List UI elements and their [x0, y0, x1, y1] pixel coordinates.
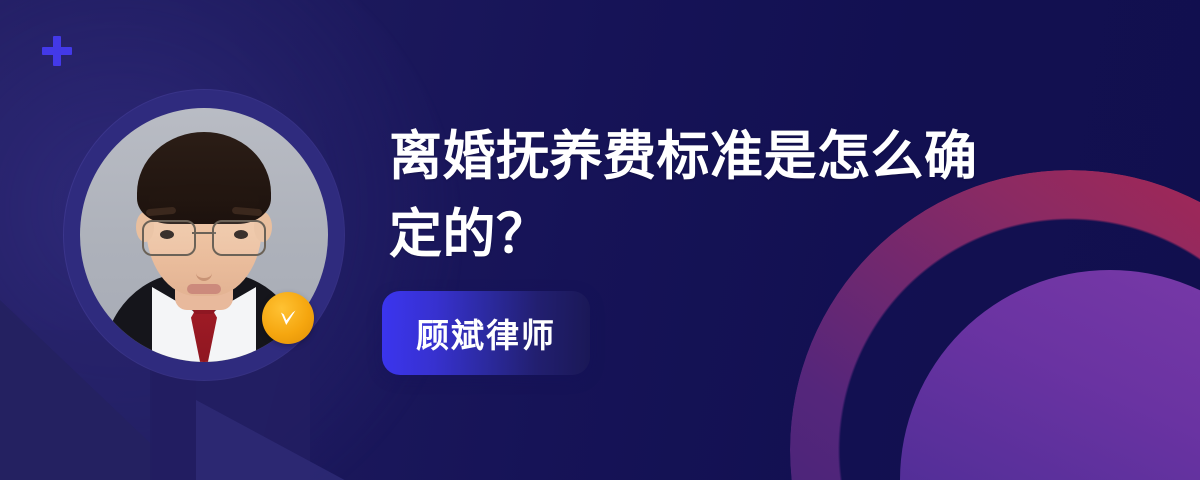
glasses-lens-right	[212, 220, 266, 256]
glasses-lens-left	[142, 220, 196, 256]
portrait-nose	[196, 256, 212, 281]
background-triangle-bottom	[196, 400, 456, 480]
plus-icon	[42, 36, 72, 66]
lawyer-name-button[interactable]: 顾斌律师	[382, 291, 590, 375]
page-title: 离婚抚养费标准是怎么确定的？	[389, 118, 989, 274]
portrait-mouth	[187, 284, 221, 294]
lawyer-qa-banner: 离婚抚养费标准是怎么确定的？ 顾斌律师	[0, 0, 1200, 480]
verified-check-icon	[262, 292, 314, 344]
avatar[interactable]	[64, 90, 344, 380]
portrait-glasses	[142, 220, 266, 254]
banner-content: 离婚抚养费标准是怎么确定的？ 顾斌律师	[389, 118, 1029, 375]
